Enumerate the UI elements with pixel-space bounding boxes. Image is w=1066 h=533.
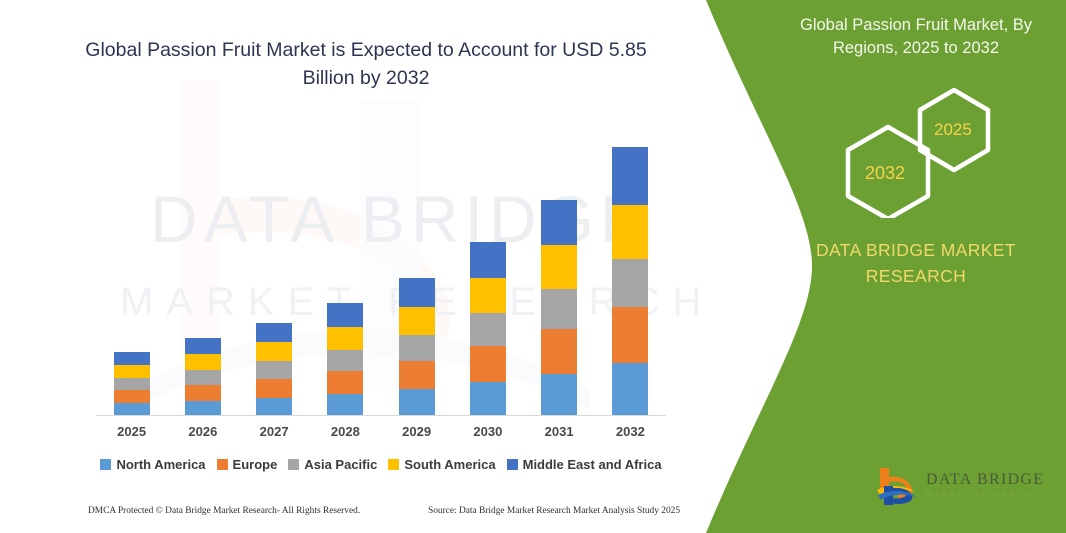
bar-segment xyxy=(399,307,435,335)
bar-stack xyxy=(541,200,577,415)
x-axis-tick-2032: 2032 xyxy=(595,424,666,439)
bar-column xyxy=(595,120,666,415)
hexagon-2025-label: 2025 xyxy=(934,120,972,140)
bar-segment xyxy=(399,335,435,361)
bar-segment xyxy=(114,390,150,403)
bar-segment xyxy=(541,374,577,415)
bar-segment xyxy=(327,371,363,394)
bar-segment xyxy=(114,365,150,378)
bar-segment xyxy=(327,327,363,350)
bar-stack xyxy=(399,278,435,415)
bar-segment xyxy=(256,342,292,361)
data-bridge-logo: DATA BRIDGE MARKET RESEARCH xyxy=(874,462,1054,510)
bar-segment xyxy=(612,307,648,363)
bar-segment xyxy=(470,346,506,382)
bar-segment xyxy=(185,385,221,401)
bar-segment xyxy=(114,378,150,390)
bar-segment xyxy=(114,352,150,365)
bar-segment xyxy=(470,242,506,278)
bar-segment xyxy=(612,205,648,259)
bar-segment xyxy=(399,278,435,307)
stacked-bar-chart xyxy=(96,120,666,415)
bar-stack xyxy=(470,242,506,415)
bar-segment xyxy=(612,147,648,205)
bar-segment xyxy=(256,323,292,342)
bar-segment xyxy=(185,354,221,370)
bar-segment xyxy=(612,363,648,415)
data-bridge-logo-mark-icon xyxy=(874,464,918,508)
bar-segment xyxy=(470,313,506,346)
bar-segment xyxy=(256,361,292,379)
legend-item[interactable]: Europe xyxy=(217,457,278,472)
bar-stack xyxy=(114,352,150,415)
bar-segment xyxy=(470,278,506,313)
x-axis-tick-2026: 2026 xyxy=(167,424,238,439)
legend-item[interactable]: North America xyxy=(100,457,205,472)
bar-column xyxy=(381,120,452,415)
legend-swatch-icon xyxy=(388,459,399,470)
legend-item[interactable]: Asia Pacific xyxy=(288,457,377,472)
legend-swatch-icon xyxy=(288,459,299,470)
x-axis-tick-2025: 2025 xyxy=(96,424,167,439)
bar-column xyxy=(524,120,595,415)
bar-stack xyxy=(256,323,292,415)
bar-column xyxy=(167,120,238,415)
bar-stack xyxy=(327,303,363,415)
bar-segment xyxy=(541,245,577,289)
bar-segment xyxy=(327,303,363,327)
bar-column xyxy=(452,120,523,415)
bar-segment xyxy=(185,338,221,354)
hexagon-outlines-icon xyxy=(816,88,1036,218)
x-axis-labels: 20252026202720282029203020312032 xyxy=(96,424,666,439)
chart-baseline xyxy=(96,415,666,416)
footer-copyright: DMCA Protected © Data Bridge Market Rese… xyxy=(88,506,360,516)
brand-name: DATA BRIDGE MARKET RESEARCH xyxy=(786,237,1046,290)
bar-column xyxy=(239,120,310,415)
bar-segment xyxy=(399,361,435,389)
bar-segment xyxy=(541,200,577,245)
chart-title: Global Passion Fruit Market is Expected … xyxy=(78,37,654,92)
legend-swatch-icon xyxy=(100,459,111,470)
infographic-canvas: DATA BRIDGE MARKET RESEARCH Global Passi… xyxy=(0,0,1066,533)
hexagon-group: 2032 2025 xyxy=(816,88,1036,218)
bar-segment xyxy=(541,289,577,329)
bar-column xyxy=(96,120,167,415)
bar-segment xyxy=(185,401,221,415)
bar-segment xyxy=(256,379,292,398)
bar-segment xyxy=(327,394,363,415)
bar-column xyxy=(310,120,381,415)
x-axis-tick-2030: 2030 xyxy=(452,424,523,439)
x-axis-tick-2027: 2027 xyxy=(239,424,310,439)
legend-label: Middle East and Africa xyxy=(523,457,662,472)
footer-source: Source: Data Bridge Market Research Mark… xyxy=(428,506,680,516)
panel-title: Global Passion Fruit Market, By Regions,… xyxy=(776,14,1056,61)
bar-segment xyxy=(327,350,363,371)
legend-label: Asia Pacific xyxy=(304,457,377,472)
legend-item[interactable]: South America xyxy=(388,457,495,472)
bar-stack xyxy=(185,338,221,415)
logo-main-text: DATA BRIDGE xyxy=(926,472,1044,488)
x-axis-tick-2028: 2028 xyxy=(310,424,381,439)
hexagon-2032-label: 2032 xyxy=(865,163,905,184)
bar-segment xyxy=(541,329,577,374)
logo-wordmark: DATA BRIDGE MARKET RESEARCH xyxy=(926,472,1044,499)
bar-segment xyxy=(612,259,648,307)
panel-content: Global Passion Fruit Market, By Regions,… xyxy=(766,0,1066,533)
chart-legend: North AmericaEuropeAsia PacificSouth Ame… xyxy=(78,457,684,472)
logo-sub-text: MARKET RESEARCH xyxy=(926,492,1044,499)
bar-segment xyxy=(114,403,150,415)
bar-segment xyxy=(470,382,506,415)
legend-item[interactable]: Middle East and Africa xyxy=(507,457,662,472)
x-axis-tick-2029: 2029 xyxy=(381,424,452,439)
legend-label: Europe xyxy=(233,457,278,472)
x-axis-tick-2031: 2031 xyxy=(524,424,595,439)
legend-label: South America xyxy=(404,457,495,472)
legend-swatch-icon xyxy=(507,459,518,470)
bar-segment xyxy=(399,389,435,415)
bar-stack xyxy=(612,147,648,415)
bar-segment xyxy=(256,398,292,415)
legend-label: North America xyxy=(116,457,205,472)
legend-swatch-icon xyxy=(217,459,228,470)
bar-segment xyxy=(185,370,221,385)
